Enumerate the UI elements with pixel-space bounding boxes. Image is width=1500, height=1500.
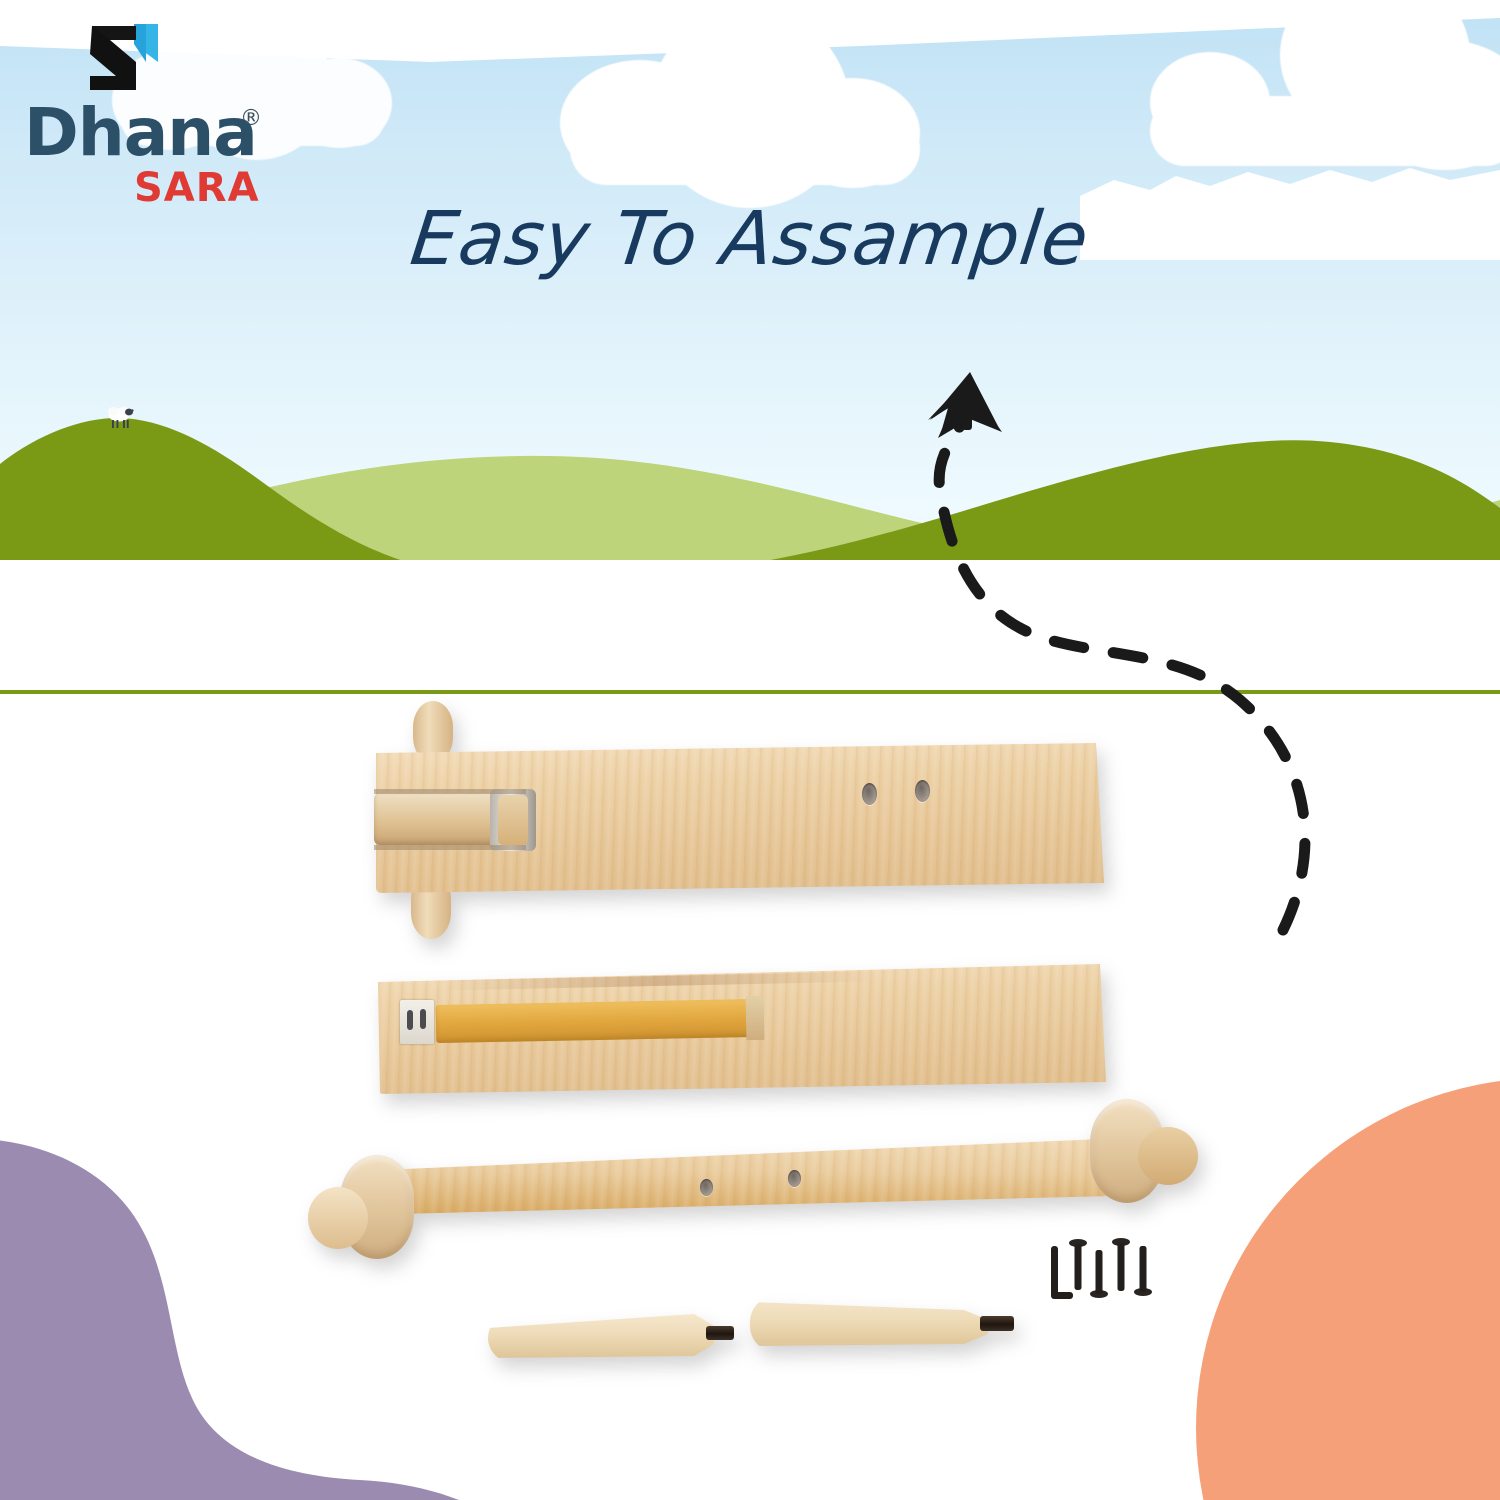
poster-canvas: Dhana ® SARA Easy To Assample: [0, 0, 1500, 1500]
cloud-center: [560, 8, 980, 178]
bolt-1: [1069, 1239, 1087, 1290]
allen-key-icon: [1051, 1246, 1073, 1299]
grass-torn-edge: [0, 560, 1500, 690]
part-grooved-plank: [378, 950, 1113, 1110]
hinge-seam-bottom: [374, 845, 526, 850]
end-cap-left: [308, 1187, 368, 1249]
bolt-4: [1134, 1246, 1152, 1296]
bar-body: [358, 1137, 1150, 1215]
hardware-set: [1045, 1232, 1185, 1342]
metal-plate: [400, 1000, 434, 1044]
peg-body: [488, 1314, 714, 1362]
registered-mark: ®: [240, 106, 262, 131]
part-dowel-peg-left: [488, 1300, 738, 1380]
bar-hole-2: [788, 1170, 801, 1187]
hinge-pivot: [498, 795, 528, 845]
plate-hole-1: [407, 1010, 413, 1030]
bolt-2: [1090, 1250, 1108, 1298]
peg-screw-stud: [706, 1326, 734, 1340]
page-title: Easy To Assample: [0, 196, 1500, 282]
inset-rail-end: [746, 996, 765, 1040]
peg-body: [750, 1296, 988, 1352]
bolt-hole-1: [862, 783, 877, 805]
part-dowel-peg-right: [750, 1288, 1018, 1368]
brand-logo[interactable]: Dhana ® SARA: [18, 22, 278, 202]
brand-name: Dhana: [24, 100, 257, 166]
plate-hole-2: [420, 1009, 426, 1029]
bolt-3: [1112, 1238, 1130, 1291]
bolt-hole-2: [915, 780, 930, 802]
inset-rail: [436, 999, 757, 1043]
part-hinged-plank: [370, 695, 1115, 945]
decor-orange-circle: [1196, 1078, 1500, 1500]
end-cap-right: [1138, 1127, 1198, 1185]
hinge-seam-top: [374, 789, 526, 794]
sheep-icon: [104, 404, 138, 430]
bar-hole-1: [700, 1179, 713, 1196]
peg-screw-stud: [980, 1316, 1014, 1331]
ds-monogram-icon: [84, 22, 168, 94]
